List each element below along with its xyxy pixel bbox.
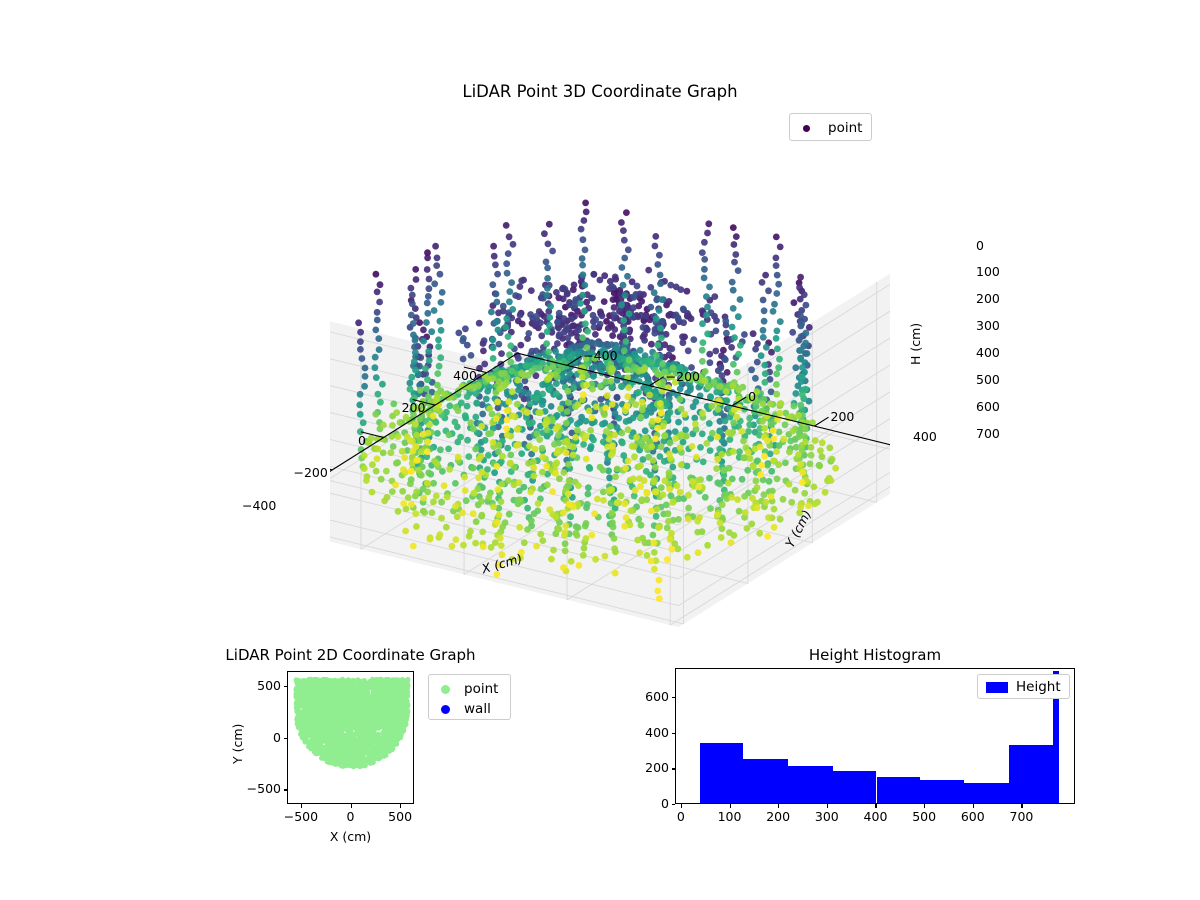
x-tick-0: −400 [242, 498, 276, 513]
x-tick-label-3: 300 [805, 809, 849, 824]
h-tick-7: 700 [976, 426, 1000, 441]
plot2d-legend: point wall [428, 674, 511, 720]
histogram-title: Height Histogram [725, 646, 1025, 664]
histogram-bar [1009, 745, 1053, 803]
legend-entry-height: Height [986, 679, 1061, 695]
histogram-legend: Height [977, 674, 1070, 699]
h-tick-2: 200 [976, 291, 1000, 306]
x-tickmark-6 [973, 804, 974, 808]
matplotlib-figure: LiDAR Point 3D Coordinate Graph point −4… [0, 0, 1200, 900]
x-tickmark-7 [1021, 804, 1022, 808]
histogram-bar [877, 777, 921, 803]
x-tick-4: 400 [448, 368, 482, 383]
y-tick-label-2: −500 [235, 781, 281, 796]
y-tick-label-3: 600 [625, 689, 669, 704]
legend-label-wall: wall [464, 701, 491, 717]
y-tick-label-1: 200 [625, 760, 669, 775]
x-tickmark-4 [875, 804, 876, 808]
x-tick-2: 0 [345, 433, 379, 448]
x-tickmark-2 [400, 804, 401, 808]
x-tick-label-2: 200 [756, 809, 800, 824]
histogram-bar [700, 743, 743, 803]
y-tick-3: 200 [831, 409, 855, 424]
plot3d-axes [330, 130, 890, 630]
h-axis-label: H (cm) [908, 323, 923, 365]
x-axis-label: X (cm) [311, 829, 391, 844]
x-tick-label-7: 700 [999, 809, 1043, 824]
y-tick-4: 400 [913, 429, 937, 444]
x-tick-1: −200 [294, 465, 328, 480]
x-tick-label-5: 500 [902, 809, 946, 824]
legend-label-height: Height [1016, 679, 1061, 695]
histogram-bar [788, 766, 833, 803]
histogram-bar [964, 783, 1009, 803]
plot2d-axes [287, 671, 414, 804]
y-tickmark-2 [284, 789, 288, 790]
histogram-bar [833, 771, 877, 803]
x-tick-label-0: 0 [659, 809, 703, 824]
y-tickmark-1 [672, 768, 676, 769]
h-tick-4: 400 [976, 345, 1000, 360]
legend-entry-point: point [437, 679, 502, 699]
plot3d-title: LiDAR Point 3D Coordinate Graph [0, 82, 1200, 101]
plot2d-canvas [288, 672, 414, 804]
point-marker-icon [441, 685, 450, 694]
histogram-bar [920, 780, 964, 803]
y-tickmark-1 [284, 738, 288, 739]
y-tick-2: 0 [748, 389, 756, 404]
x-tickmark-1 [730, 804, 731, 808]
x-tick-label-1: 0 [329, 809, 373, 824]
h-tick-6: 600 [976, 399, 1000, 414]
x-tick-label-4: 400 [853, 809, 897, 824]
x-tickmark-0 [301, 804, 302, 808]
y-tick-label-0: 0 [625, 796, 669, 811]
x-tick-label-0: −500 [279, 809, 323, 824]
y-tick-label-2: 400 [625, 725, 669, 740]
legend-label-point: point [464, 681, 498, 697]
x-tick-label-2: 500 [378, 809, 422, 824]
y-tickmark-2 [672, 733, 676, 734]
h-tick-1: 100 [976, 264, 1000, 279]
wall-marker-icon [441, 705, 450, 714]
h-tick-0: 0 [976, 238, 984, 253]
height-patch-icon [986, 682, 1008, 693]
y-axis-label: Y (cm) [230, 723, 245, 763]
x-tickmark-3 [827, 804, 828, 808]
x-tick-3: 200 [397, 400, 431, 415]
y-tick-0: −400 [583, 348, 617, 363]
x-tick-label-1: 100 [708, 809, 752, 824]
x-tick-label-6: 600 [951, 809, 995, 824]
histogram-bar [743, 759, 788, 803]
x-tickmark-0 [681, 804, 682, 808]
plot2d-title: LiDAR Point 2D Coordinate Graph [208, 646, 493, 664]
y-tickmark-0 [284, 686, 288, 687]
y-tick-label-0: 500 [235, 678, 281, 693]
y-tick-1: −200 [666, 369, 700, 384]
y-tickmark-3 [672, 697, 676, 698]
x-tickmark-5 [924, 804, 925, 808]
plot3d-canvas [330, 130, 890, 630]
h-tick-3: 300 [976, 318, 1000, 333]
y-tickmark-0 [672, 804, 676, 805]
h-tick-5: 500 [976, 372, 1000, 387]
legend-entry-wall: wall [437, 699, 502, 719]
x-tickmark-2 [778, 804, 779, 808]
x-tickmark-1 [351, 804, 352, 808]
